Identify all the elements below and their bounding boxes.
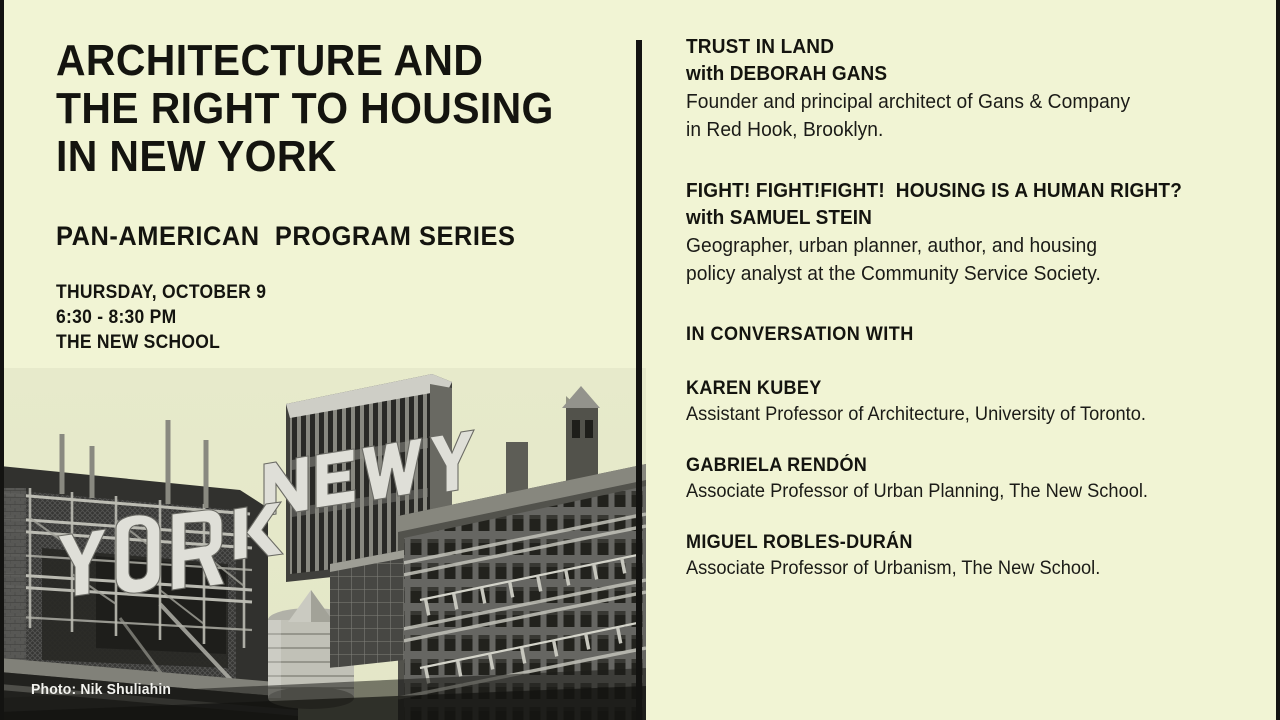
- talk-bio-2: Geographer, urban planner, author, and h…: [686, 232, 1233, 288]
- participant-2: GABRIELA RENDÓN Associate Professor of U…: [686, 453, 1256, 505]
- left-edge-bar: [0, 0, 4, 720]
- program-series-label: PAN-AMERICAN PROGRAM SERIES: [56, 220, 515, 252]
- building-photograph: Photo: Nik Shuliahin: [0, 368, 646, 720]
- talk-speaker-line-2: with SAMUEL STEIN: [686, 205, 1228, 232]
- talk-bio-1: Founder and principal architect of Gans …: [686, 88, 1233, 144]
- with-prefix-1: with: [686, 63, 730, 85]
- participant-role-1: Assistant Professor of Architecture, Uni…: [686, 402, 1233, 428]
- participant-name-2: GABRIELA RENDÓN: [686, 453, 1228, 479]
- poster-title: ARCHITECTURE AND THE RIGHT TO HOUSING IN…: [56, 37, 626, 181]
- in-conversation-with-label: IN CONVERSATION WITH: [686, 322, 1228, 348]
- talk-title-1: TRUST IN LAND: [686, 34, 1228, 61]
- speaker-name-1: DEBORAH GANS: [730, 63, 887, 85]
- event-venue: THE NEW SCHOOL: [56, 330, 266, 355]
- talk-title-2: FIGHT! FIGHT!FIGHT! HOUSING IS A HUMAN R…: [686, 178, 1228, 205]
- left-column: ARCHITECTURE AND THE RIGHT TO HOUSING IN…: [0, 0, 646, 720]
- participant-1: KAREN KUBEY Assistant Professor of Archi…: [686, 376, 1256, 428]
- with-prefix-2: with: [686, 207, 730, 229]
- participant-name-1: KAREN KUBEY: [686, 376, 1228, 402]
- title-line-2: THE RIGHT TO HOUSING: [56, 85, 586, 133]
- participant-3: MIGUEL ROBLES-DURÁN Associate Professor …: [686, 530, 1256, 582]
- event-date: THURSDAY, OCTOBER 9: [56, 280, 266, 305]
- event-time: 6:30 - 8:30 PM: [56, 305, 266, 330]
- vertical-divider: [636, 40, 642, 720]
- right-column: TRUST IN LAND with DEBORAH GANS Founder …: [686, 34, 1256, 607]
- participant-role-2: Associate Professor of Urban Planning, T…: [686, 479, 1233, 505]
- talk-block-1: TRUST IN LAND with DEBORAH GANS Founder …: [686, 34, 1256, 144]
- right-edge-bar: [1276, 0, 1280, 720]
- talk-speaker-line-1: with DEBORAH GANS: [686, 61, 1228, 88]
- photo-credit: Photo: Nik Shuliahin: [31, 681, 171, 698]
- speaker-name-2: SAMUEL STEIN: [730, 207, 872, 229]
- participant-role-3: Associate Professor of Urbanism, The New…: [686, 556, 1233, 582]
- participant-name-3: MIGUEL ROBLES-DURÁN: [686, 530, 1228, 556]
- title-line-3: IN NEW YORK: [56, 133, 586, 181]
- title-line-1: ARCHITECTURE AND: [56, 37, 586, 85]
- event-poster: ARCHITECTURE AND THE RIGHT TO HOUSING IN…: [0, 0, 1280, 720]
- talk-block-2: FIGHT! FIGHT!FIGHT! HOUSING IS A HUMAN R…: [686, 178, 1256, 288]
- event-details: THURSDAY, OCTOBER 9 6:30 - 8:30 PM THE N…: [56, 280, 266, 355]
- photo-illustration: [0, 368, 646, 720]
